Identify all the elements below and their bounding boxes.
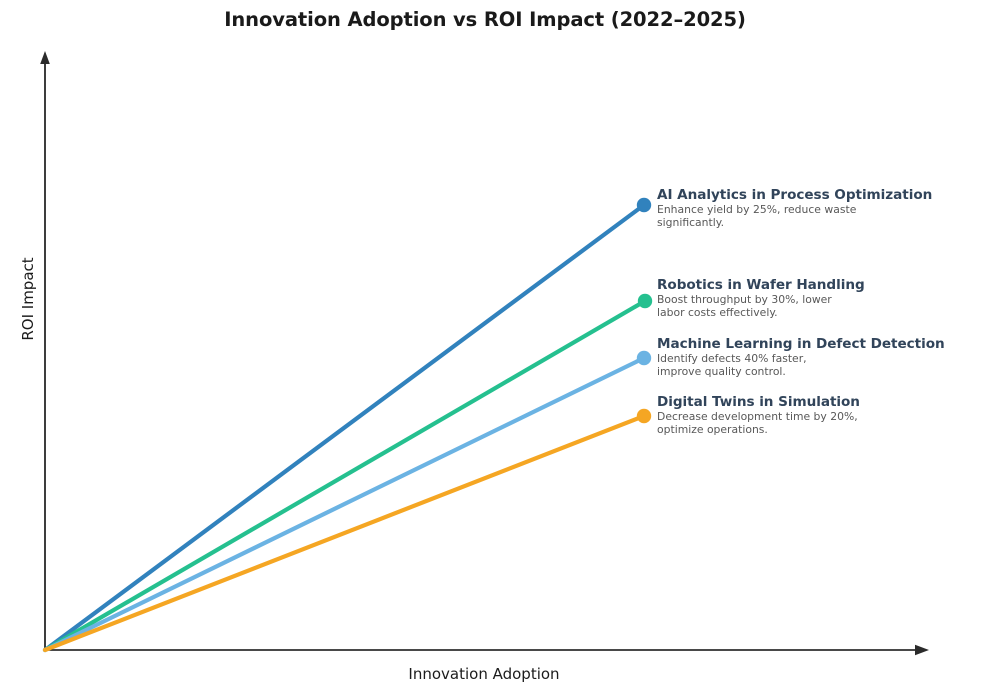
series-line xyxy=(45,358,644,650)
series-line xyxy=(45,416,644,650)
series-annotation-title: Robotics in Wafer Handling xyxy=(657,278,865,293)
description-line: significantly. xyxy=(657,217,932,230)
description-line: Identify defects 40% faster, xyxy=(657,353,945,366)
series-annotation-title: AI Analytics in Process Optimization xyxy=(657,188,932,203)
series-annotation-title: Digital Twins in Simulation xyxy=(657,395,860,410)
series-annotation-ai-analytics: AI Analytics in Process Optimization Enh… xyxy=(657,188,932,229)
series-line xyxy=(45,301,645,650)
chart-canvas: Innovation Adoption vs ROI Impact (2022–… xyxy=(0,0,1000,700)
description-line: optimize operations. xyxy=(657,424,860,437)
series-endpoint-marker[interactable] xyxy=(637,198,651,212)
description-line: Enhance yield by 25%, reduce waste xyxy=(657,204,932,217)
series-line xyxy=(45,205,644,650)
series-annotation-description: Identify defects 40% faster, improve qua… xyxy=(657,353,945,378)
series-endpoint-marker[interactable] xyxy=(637,351,651,365)
y-axis-label: ROI Impact xyxy=(19,239,37,359)
y-axis-arrow-icon xyxy=(40,51,50,64)
description-line: Decrease development time by 20%, xyxy=(657,411,860,424)
description-line: labor costs effectively. xyxy=(657,307,865,320)
series-endpoint-marker[interactable] xyxy=(638,294,652,308)
x-axis-arrow-icon xyxy=(915,645,929,655)
description-line: Boost throughput by 30%, lower xyxy=(657,294,865,307)
series-annotation-machine-learning: Machine Learning in Defect Detection Ide… xyxy=(657,337,945,378)
series-annotation-description: Enhance yield by 25%, reduce waste signi… xyxy=(657,204,932,229)
description-line: improve quality control. xyxy=(657,366,945,379)
series-endpoint-marker[interactable] xyxy=(637,409,651,423)
x-axis-label: Innovation Adoption xyxy=(0,665,968,683)
series-annotation-digital-twins: Digital Twins in Simulation Decrease dev… xyxy=(657,395,860,436)
series-layer xyxy=(45,198,652,650)
series-annotation-description: Decrease development time by 20%, optimi… xyxy=(657,411,860,436)
series-annotation-description: Boost throughput by 30%, lower labor cos… xyxy=(657,294,865,319)
series-annotation-title: Machine Learning in Defect Detection xyxy=(657,337,945,352)
series-annotation-robotics: Robotics in Wafer Handling Boost through… xyxy=(657,278,865,319)
